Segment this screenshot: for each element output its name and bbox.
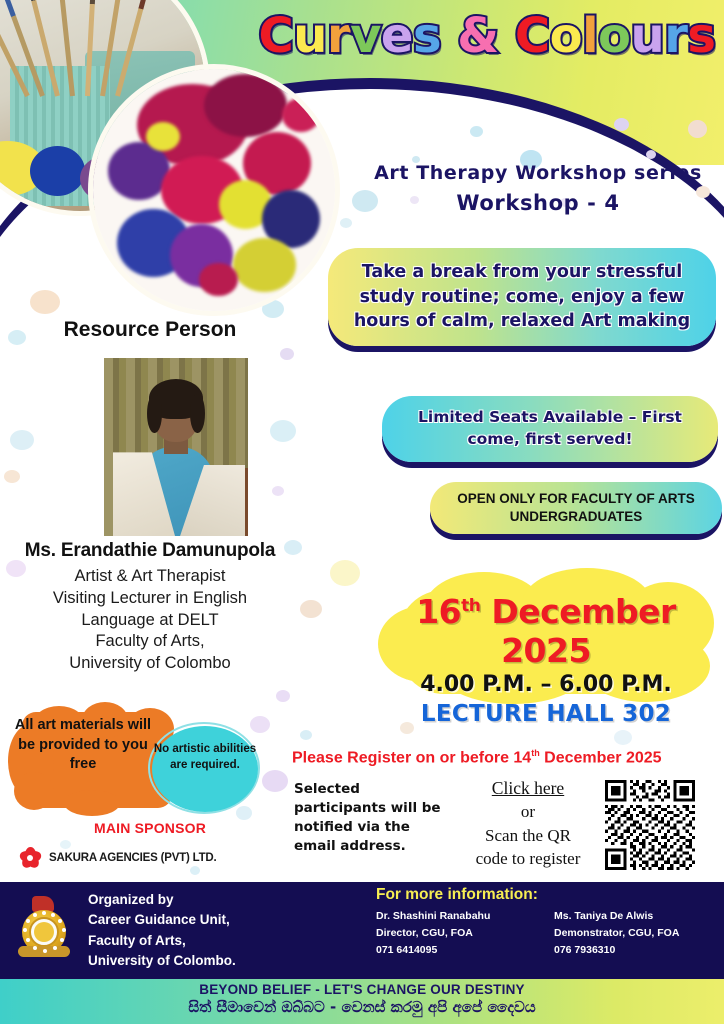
scan-qr-line-2: code to register [458,847,598,870]
event-date: 16th December 2025 [372,592,720,670]
resource-detail-line: Faculty of Arts, [0,631,300,653]
contact-name: Dr. Shashini Ranabahu [376,908,536,925]
more-information-heading: For more information: [376,886,538,904]
contacts-list: Dr. Shashini Ranabahu Director, CGU, FOA… [376,908,716,959]
resource-detail-line: Language at DELT [0,610,300,632]
contact-role: Director, CGU, FOA [376,925,536,942]
resource-detail-line: Artist & Art Therapist [0,566,300,588]
sakura-flower-icon [18,846,42,870]
callout-text: Take a break from your stressful study r… [328,260,716,335]
callout-take-a-break: Take a break from your stressful study r… [328,248,716,346]
organizer-line: Career Guidance Unit, [88,910,338,930]
tagline-bar: BEYOND BELIEF - LET'S CHANGE OUR DESTINY… [0,979,724,1024]
resource-detail-line: Visiting Lecturer in English [0,588,300,610]
resource-detail-line: University of Colombo [0,653,300,675]
callout-open-only-faculty-of-arts: OPEN ONLY FOR FACULTY OF ARTS UNDERGRADU… [430,482,722,534]
contact-name: Ms. Taniya De Alwis [554,908,714,925]
series-line-2: Workshop - 4 [352,188,724,218]
event-date-block: 16th December 2025 4.00 P.M. – 6.00 P.M.… [372,592,720,727]
organizer-line: Faculty of Arts, [88,931,338,951]
register-deadline: Please Register on or before 14th Decemb… [292,748,720,767]
poster-root: Curves & Colours Art Therapy Workshop se… [0,0,724,1024]
badge-no-artistic-text: No artistic abilities are required. [152,742,258,773]
sponsor-logo: SAKURA AGENCIES (PVT) LTD. [18,846,288,870]
sponsor-label: MAIN SPONSOR [0,820,300,836]
resource-person-name: Ms. Erandathie Damunupola [0,540,300,562]
event-venue: LECTURE HALL 302 [372,701,720,727]
callout-limited-seats: Limited Seats Available – First come, fi… [382,396,718,462]
organizer-line: Organized by [88,890,338,910]
contact-role: Demonstrator, CGU, FOA [554,925,714,942]
photo-paint-splash-art [88,64,340,316]
contact-item: Dr. Shashini Ranabahu Director, CGU, FOA… [376,908,536,959]
resource-person-photo [104,358,248,536]
click-here-link[interactable]: Click here [458,776,598,800]
register-note: Selected participants will be notified v… [294,780,454,857]
qr-code[interactable] [604,780,696,870]
organizer-block: Organized by Career Guidance Unit, Facul… [88,890,338,971]
callout-text: Limited Seats Available – First come, fi… [382,407,718,450]
university-crest-icon [18,896,70,958]
scan-qr-line-1: Scan the QR [458,824,598,847]
page-title: Curves & Colours [258,8,716,70]
badge-free-materials-text: All art materials will be provided to yo… [10,716,156,775]
qr-code-image [604,780,696,870]
contact-phone[interactable]: 076 7936310 [554,942,714,959]
register-actions: Click here or Scan the QR code to regist… [458,776,598,871]
resource-person-details: Artist & Art Therapist Visiting Lecturer… [0,566,300,675]
tagline-sinhala: සිත් සීමාවෙන් ඔබ්බට - වෙනස් කරමු අපි අපේ… [0,998,724,1016]
series-line-1: Art Therapy Workshop series [352,160,724,188]
tagline-english: BEYOND BELIEF - LET'S CHANGE OUR DESTINY [0,982,724,997]
contact-phone[interactable]: 071 6414095 [376,942,536,959]
callout-text: OPEN ONLY FOR FACULTY OF ARTS UNDERGRADU… [430,490,722,526]
contact-item: Ms. Taniya De Alwis Demonstrator, CGU, F… [554,908,714,959]
or-label: or [458,800,598,823]
workshop-series-heading: Art Therapy Workshop series Workshop - 4 [352,160,724,218]
resource-person-heading: Resource Person [0,318,300,342]
sponsor-name: SAKURA AGENCIES (PVT) LTD. [49,852,217,864]
event-time: 4.00 P.M. – 6.00 P.M. [372,672,720,697]
organizer-line: University of Colombo. [88,951,338,971]
